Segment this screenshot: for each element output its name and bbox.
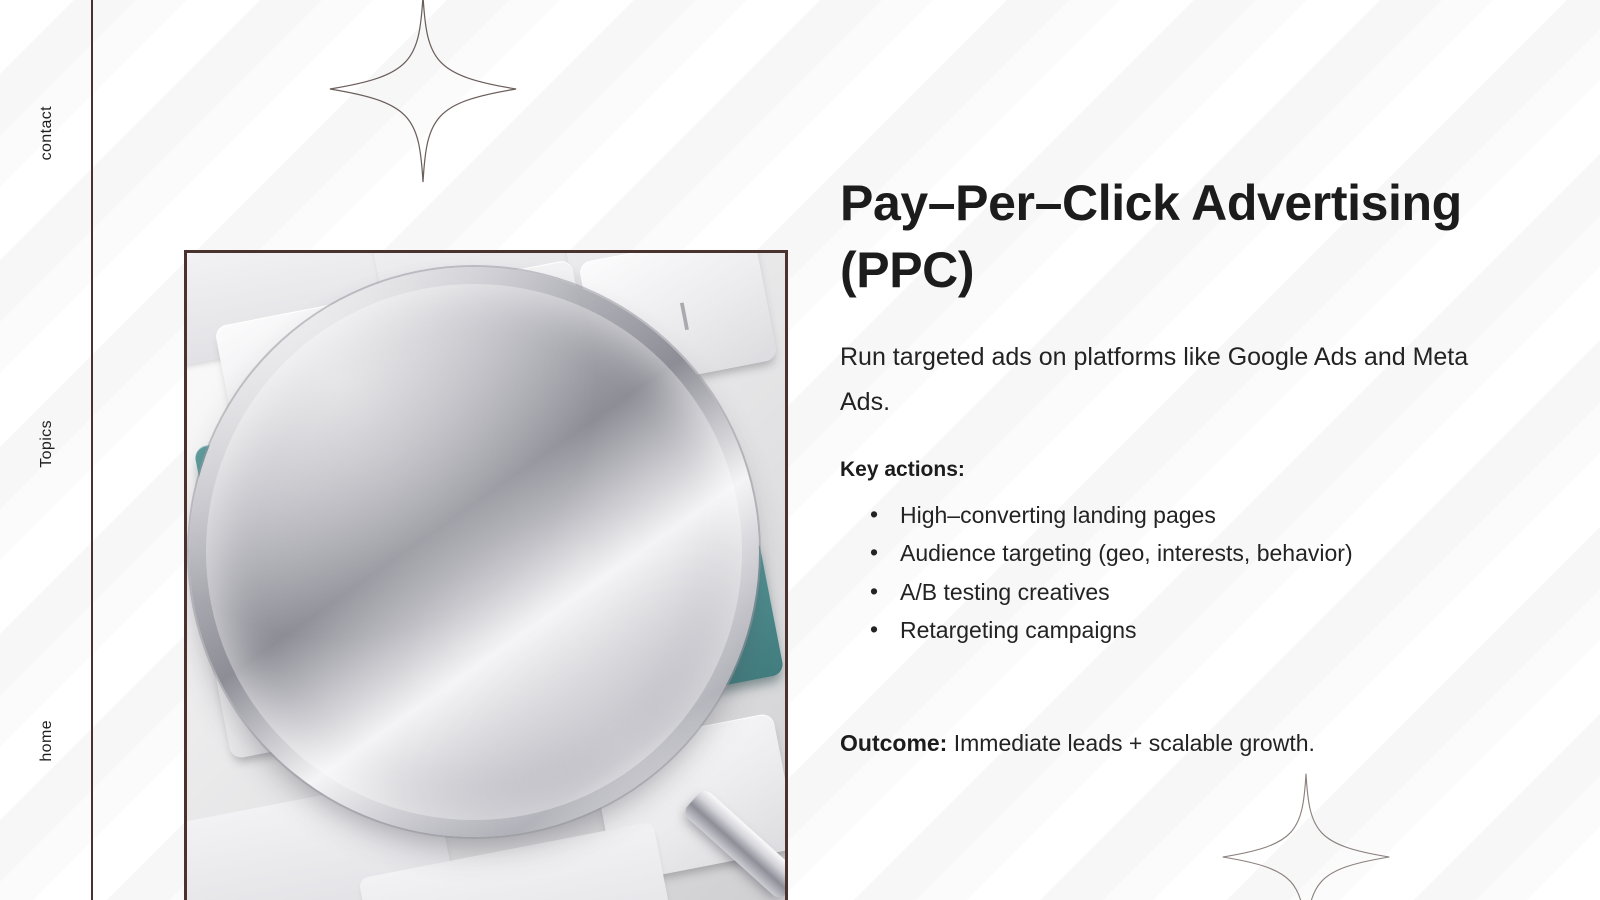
sidebar-item-label: home xyxy=(38,720,56,762)
sidebar-item-topics[interactable]: Topics xyxy=(0,404,93,484)
page-title: Pay–Per–Click Advertising (PPC) xyxy=(840,170,1500,303)
outcome-value: Immediate leads + scalable growth. xyxy=(947,730,1315,756)
sidebar-item-label: contact xyxy=(38,106,56,160)
key-ppc-p1 xyxy=(193,412,404,585)
key-actions-list: High–converting landing pages Audience t… xyxy=(868,496,1488,650)
list-item: Audience targeting (geo, interests, beha… xyxy=(868,534,1488,572)
outcome-text: Outcome: Immediate leads + scalable grow… xyxy=(840,726,1500,762)
slide-canvas: contact Topics home Y U I P P xyxy=(0,0,1600,900)
list-item: A/B testing creatives xyxy=(868,573,1488,611)
keyboard-photo: Y U I P P C N M xyxy=(187,253,785,900)
subtitle-text: Run targeted ads on platforms like Googl… xyxy=(840,335,1488,424)
list-item: Retargeting campaigns xyxy=(868,611,1488,649)
sidebar-item-label: Topics xyxy=(38,420,56,468)
list-item: High–converting landing pages xyxy=(868,496,1488,534)
key-actions-label: Key actions: xyxy=(840,458,965,482)
outcome-label: Outcome: xyxy=(840,730,947,756)
slide-content: Pay–Per–Click Advertising (PPC) Run targ… xyxy=(840,0,1540,900)
sparkle-icon xyxy=(312,0,534,184)
ppc-keyboard-image: Y U I P P C N M xyxy=(184,250,788,900)
sidebar-item-contact[interactable]: contact xyxy=(0,90,93,176)
sidebar-nav: contact Topics home xyxy=(0,0,93,900)
sidebar-item-home[interactable]: home xyxy=(0,702,93,780)
